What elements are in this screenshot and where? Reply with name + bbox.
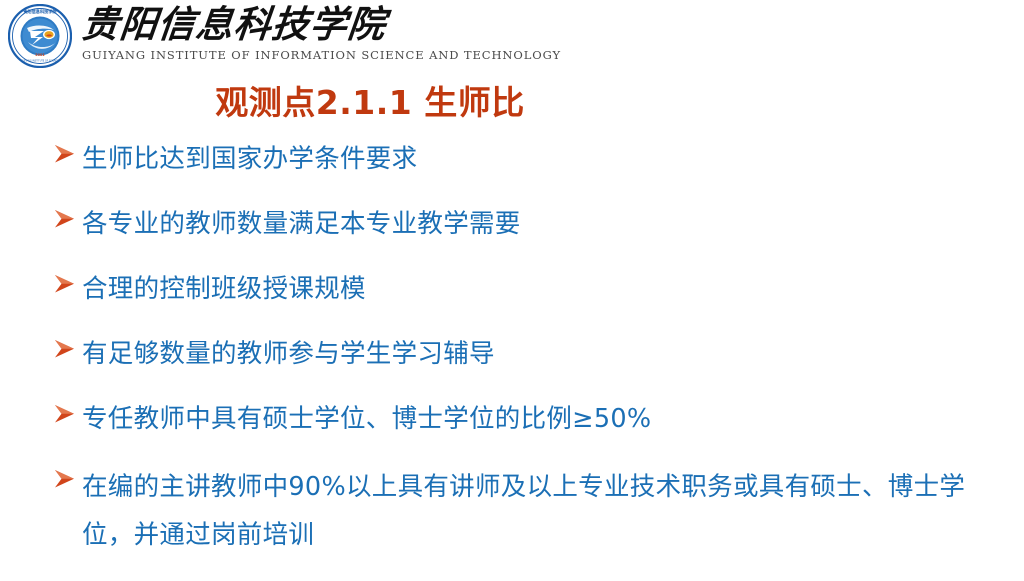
list-item-text: 有足够数量的教师参与学生学习辅导: [82, 333, 1012, 376]
list-item: 在编的主讲教师中90%以上具有讲师及以上专业技术职务或具有硕士、博士学位，并通过…: [52, 463, 1012, 559]
arrow-bullet-icon: [52, 142, 82, 173]
brand-block: 贵阳信息科技学院 GUIYANG INSTITUTE OF INFORMATIO…: [82, 2, 412, 63]
list-item-text: 各专业的教师数量满足本专业教学需要: [82, 203, 1012, 246]
arrow-bullet-icon: [52, 272, 82, 303]
brand-name-en: GUIYANG INSTITUTE OF INFORMATION SCIENCE…: [82, 47, 404, 63]
slide-header: 贵阳信息科技学院 GUIYANG INSTITUTE OF SCIENCE 20…: [0, 0, 1024, 74]
svg-text:2001: 2001: [35, 53, 45, 57]
list-item-text: 合理的控制班级授课规模: [82, 268, 1012, 311]
svg-text:贵阳信息科技学院: 贵阳信息科技学院: [23, 8, 57, 15]
list-item: 生师比达到国家办学条件要求: [52, 138, 1012, 181]
arrow-bullet-icon: [52, 337, 82, 368]
list-item: 合理的控制班级授课规模: [52, 268, 1012, 311]
list-item: 专任教师中具有硕士学位、博士学位的比例≥50%: [52, 398, 1012, 441]
bullet-list: 生师比达到国家办学条件要求 各专业的教师数量满足本专业教学需要 合理的控制班级授…: [52, 138, 1012, 581]
brand-name-cn: 贵阳信息科技学院: [80, 2, 415, 46]
list-item: 各专业的教师数量满足本专业教学需要: [52, 203, 1012, 246]
slide-title: 观测点2.1.1 生师比: [0, 82, 740, 124]
arrow-bullet-icon: [52, 402, 82, 433]
arrow-bullet-icon: [52, 207, 82, 238]
svg-text:GUIYANG INSTITUTE OF SCIENCE: GUIYANG INSTITUTE OF SCIENCE: [21, 60, 59, 63]
list-item-text: 在编的主讲教师中90%以上具有讲师及以上专业技术职务或具有硕士、博士学位，并通过…: [82, 463, 1012, 559]
arrow-bullet-icon: [52, 467, 82, 498]
list-item-text: 生师比达到国家办学条件要求: [82, 138, 1012, 181]
list-item-text: 专任教师中具有硕士学位、博士学位的比例≥50%: [82, 398, 1012, 441]
list-item: 有足够数量的教师参与学生学习辅导: [52, 333, 1012, 376]
university-seal-logo: 贵阳信息科技学院 GUIYANG INSTITUTE OF SCIENCE 20…: [8, 4, 72, 68]
